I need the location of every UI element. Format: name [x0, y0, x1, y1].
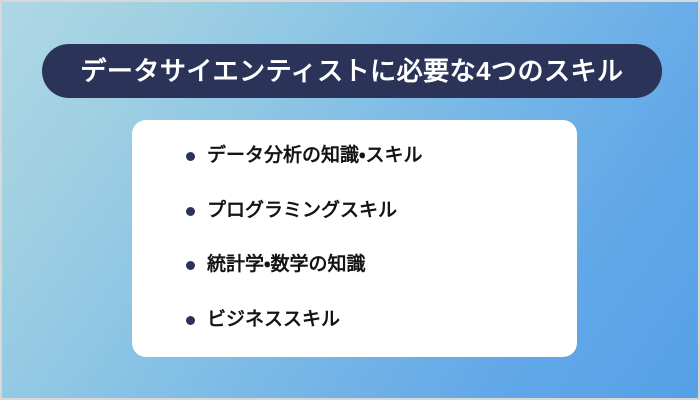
- filled-circle-bullet-icon: [186, 261, 195, 270]
- filled-circle-bullet-icon: [186, 207, 195, 216]
- list-item-label: 統計学・数学の知識: [207, 255, 365, 276]
- list-item-label: ビジネススキル: [207, 310, 340, 331]
- list-item: ビジネススキル: [186, 310, 577, 331]
- list-item-label: プログラミングスキル: [207, 201, 397, 222]
- skills-card: データ分析の知識・スキル プログラミングスキル 統計学・数学の知識 ビジネススキ…: [132, 120, 577, 357]
- filled-circle-bullet-icon: [186, 152, 195, 161]
- list-item-label: データ分析の知識・スキル: [207, 146, 422, 167]
- list-item: 統計学・数学の知識: [186, 255, 577, 276]
- slide-title-pill: データサイエンティストに必要な4つのスキル: [42, 44, 662, 98]
- list-item: プログラミングスキル: [186, 201, 577, 222]
- slide-canvas: データサイエンティストに必要な4つのスキル データ分析の知識・スキル プログラミ…: [0, 0, 700, 400]
- filled-circle-bullet-icon: [186, 316, 195, 325]
- page-title: データサイエンティストに必要な4つのスキル: [80, 58, 623, 84]
- list-item: データ分析の知識・スキル: [186, 146, 577, 167]
- skills-list: データ分析の知識・スキル プログラミングスキル 統計学・数学の知識 ビジネススキ…: [186, 146, 577, 331]
